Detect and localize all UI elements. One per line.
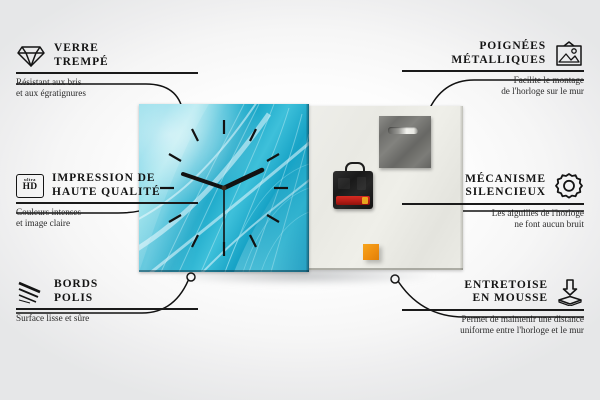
- feature-bords-subtitle: Surface lisse et sûre: [16, 313, 198, 324]
- feature-poignees-subtitle: Facilite le montage de l'horloge sur le …: [402, 75, 584, 97]
- feature-verre-title: VERRE TREMPÉ: [54, 42, 109, 69]
- feature-poignees-metalliques: POIGNÉES MÉTALLIQUES Facilite le montage…: [402, 40, 584, 97]
- gear-icon: [554, 172, 584, 200]
- wall-frame-hanger-icon: [554, 41, 584, 67]
- feature-verre-subtitle: Résistant aux bris et aux égratignures: [16, 77, 198, 99]
- feature-mecanisme-header: MÉCANISME SILENCIEUX: [402, 172, 584, 200]
- diamond-icon: [16, 44, 46, 68]
- feature-mecanisme-silencieux: MÉCANISME SILENCIEUX Les aiguilles de l'…: [402, 172, 584, 230]
- feature-verre-trempe: VERRE TREMPÉ Résistant aux bris et aux é…: [16, 42, 198, 99]
- feature-verre-header: VERRE TREMPÉ: [16, 42, 198, 69]
- feature-verre-rule: [16, 72, 198, 74]
- ultra-hd-badge-icon: ultra HD: [16, 174, 44, 198]
- foam-spacer: [363, 244, 379, 260]
- hour-hand: [224, 170, 262, 188]
- battery: [336, 196, 370, 205]
- feature-entretoise-title: ENTRETOISE EN MOUSSE: [464, 279, 548, 306]
- mechanism-detail-right: [357, 177, 366, 190]
- clock-mechanism: [333, 168, 373, 209]
- battery-terminal: [362, 197, 368, 204]
- feature-entretoise-header: ENTRETOISE EN MOUSSE: [402, 278, 584, 306]
- feature-impression-subtitle: Couleurs intenses et image claire: [16, 207, 198, 229]
- infographic-canvas: VERRE TREMPÉ Résistant aux bris et aux é…: [0, 0, 600, 400]
- mechanism-detail-left: [338, 178, 350, 189]
- back-panel-edge-bottom: [307, 268, 463, 270]
- feature-impression-hd: ultra HD IMPRESSION DE HAUTE QUALITÉ Cou…: [16, 172, 198, 229]
- ultra-hd-badge-large-text: HD: [23, 183, 38, 193]
- feature-poignees-title: POIGNÉES MÉTALLIQUES: [451, 40, 546, 67]
- feature-entretoise-rule: [402, 309, 584, 311]
- feature-impression-title: IMPRESSION DE HAUTE QUALITÉ: [52, 172, 161, 199]
- feature-poignees-header: POIGNÉES MÉTALLIQUES: [402, 40, 584, 67]
- feature-mecanisme-title: MÉCANISME SILENCIEUX: [465, 173, 546, 200]
- feature-bords-polis: BORDS POLIS Surface lisse et sûre: [16, 278, 198, 324]
- feature-impression-header: ultra HD IMPRESSION DE HAUTE QUALITÉ: [16, 172, 198, 199]
- hands-pivot: [222, 186, 227, 191]
- polished-edge-lines-icon: [16, 280, 46, 304]
- clock-edge-right: [306, 104, 309, 272]
- feature-bords-rule: [16, 308, 198, 310]
- feature-poignees-rule: [402, 70, 584, 72]
- feature-entretoise-mousse: ENTRETOISE EN MOUSSE Permet de maintenir…: [402, 278, 584, 336]
- feature-entretoise-subtitle: Permet de maintenir une distance uniform…: [402, 314, 584, 336]
- feature-impression-rule: [16, 202, 198, 204]
- arrow-down-pad-icon: [556, 278, 584, 306]
- metal-hanger-plate: [379, 116, 431, 168]
- mechanism-body: [333, 171, 373, 209]
- feature-bords-header: BORDS POLIS: [16, 278, 198, 305]
- hanger-slot: [388, 127, 418, 134]
- clock-edge-bottom: [139, 270, 309, 272]
- feature-mecanisme-subtitle: Les aiguilles de l'horloge ne font aucun…: [402, 208, 584, 230]
- feature-bords-title: BORDS POLIS: [54, 278, 98, 305]
- feature-mecanisme-rule: [402, 203, 584, 205]
